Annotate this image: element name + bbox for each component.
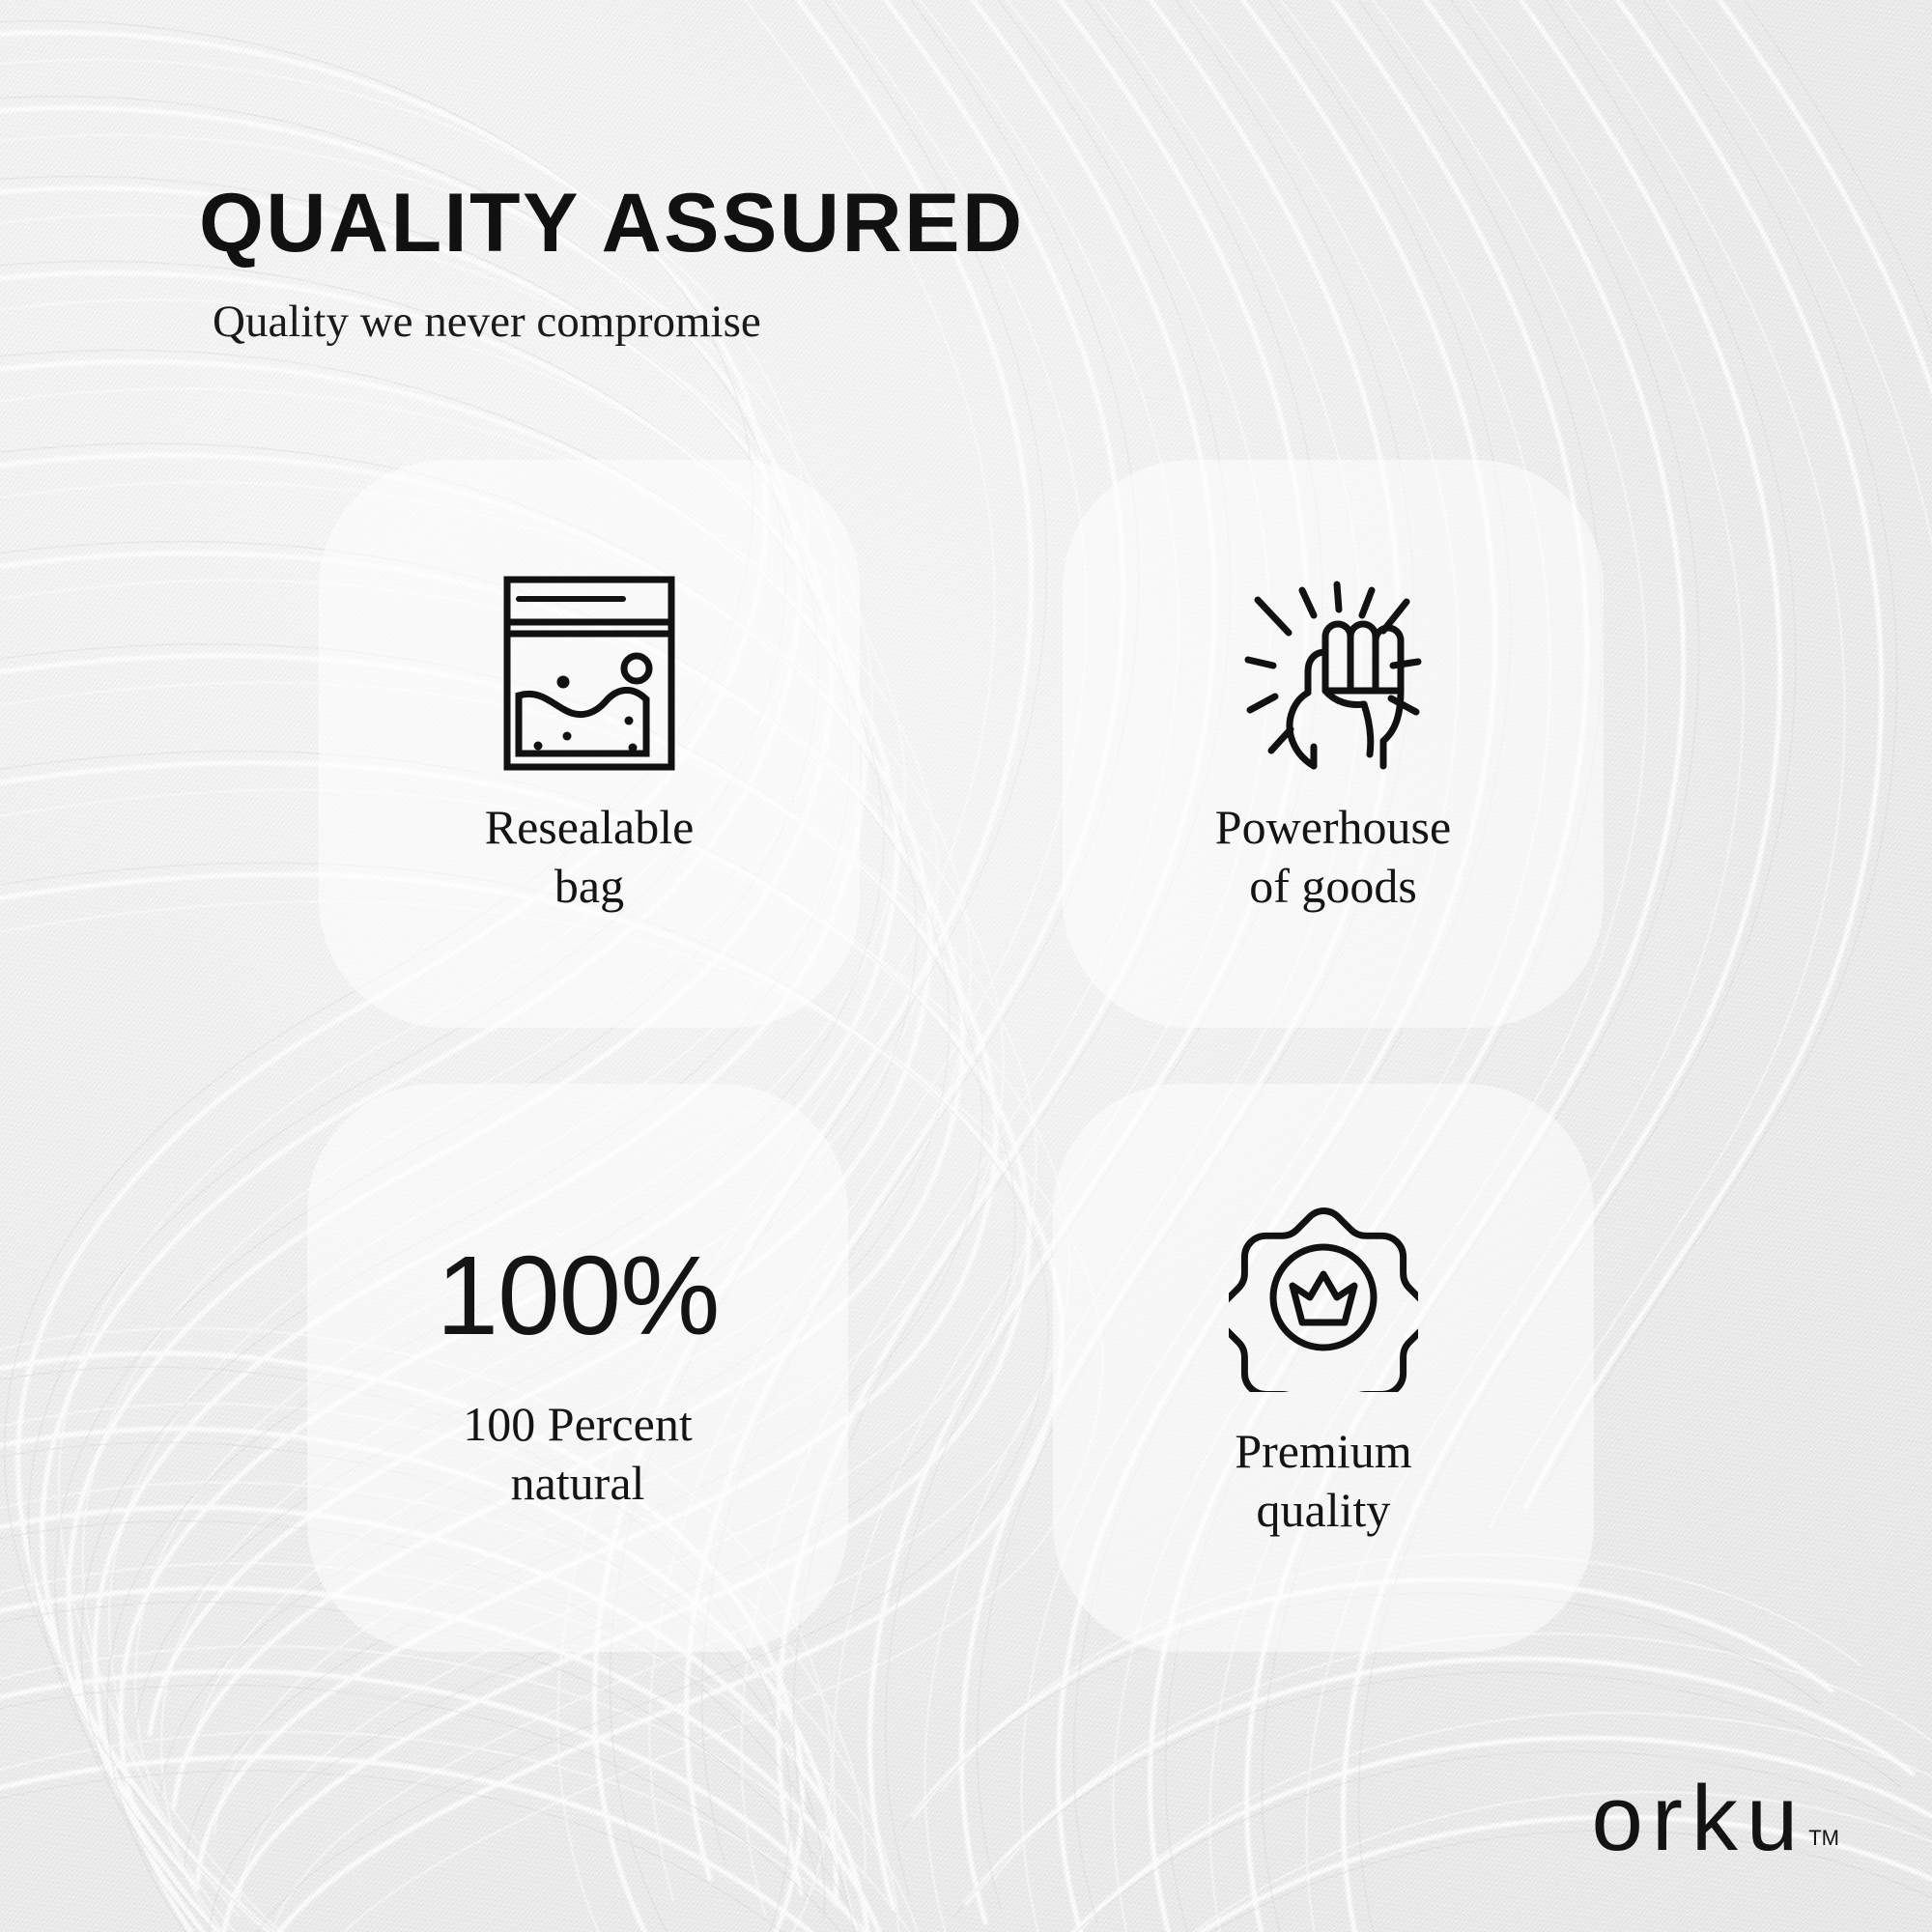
feature-label: Premium quality [1235, 1422, 1411, 1540]
header: QUALITY ASSURED Quality we never comprom… [199, 182, 1358, 345]
big-number-value: 100% [437, 1239, 720, 1351]
feature-card-premium-quality: Premium quality [1053, 1084, 1594, 1652]
feature-label: 100 Percent natural [463, 1395, 692, 1513]
page-title: QUALITY ASSURED [199, 182, 1358, 265]
percent-100-text: 100% [437, 1223, 720, 1368]
crown-badge-icon [1229, 1196, 1418, 1399]
trademark-symbol: TM [1808, 1826, 1839, 1851]
quality-assured-infographic: QUALITY ASSURED Quality we never comprom… [0, 0, 1932, 1932]
feature-card-grid: Resealable bag [0, 460, 1932, 1654]
feature-card-resealable-bag: Resealable bag [319, 460, 860, 1028]
brand-logo: orku TM [1591, 1777, 1839, 1861]
logo-wordmark: orku [1591, 1777, 1806, 1861]
feature-card-powerhouse-of-goods: Powerhouse of goods [1063, 460, 1604, 1028]
feature-card-100-percent-natural: 100% 100 Percent natural [307, 1084, 848, 1652]
raised-fist-icon [1236, 572, 1430, 775]
resealable-bag-icon [499, 572, 679, 775]
page-subtitle: Quality we never compromise [213, 299, 1358, 345]
feature-label: Resealable bag [485, 798, 695, 916]
feature-label: Powerhouse of goods [1215, 798, 1451, 916]
